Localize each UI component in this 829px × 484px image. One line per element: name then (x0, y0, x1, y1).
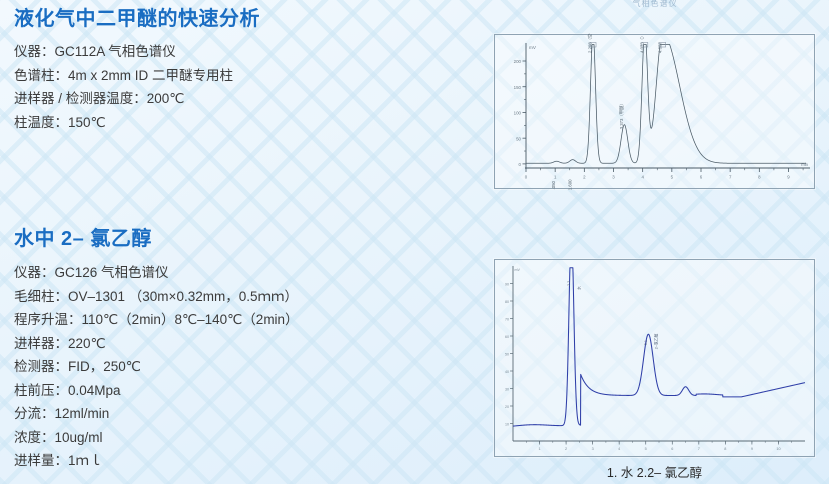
svg-text:150: 150 (514, 85, 522, 90)
svg-text:2–氯乙醇: 2–氯乙醇 (653, 333, 658, 349)
svg-text:5.1: 5.1 (644, 340, 648, 345)
svg-text:6: 6 (700, 175, 703, 180)
svg-text:20: 20 (505, 405, 509, 409)
svg-text:8: 8 (724, 447, 726, 451)
spec-item: 仪器：GC112A 气相色谱仪 (14, 40, 260, 64)
svg-text:6: 6 (671, 447, 673, 451)
svg-text:4: 4 (618, 447, 620, 451)
svg-text:2: 2 (565, 447, 567, 451)
svg-text:50: 50 (516, 136, 521, 141)
chromatogram-chloroethanol: 102030405060708090mV123456789102.2水5.12–… (493, 258, 816, 458)
section-chloroethanol: 水中 2– 氯乙醇 仪器：GC126 气相色谱仪 毛细柱：OV–1301 （30… (14, 226, 299, 473)
svg-text:60: 60 (505, 335, 509, 339)
svg-text:9: 9 (751, 447, 753, 451)
spec-item: 检测器：FID，250℃ (14, 355, 299, 379)
clipped-top-text: 气相色谱仪 (585, 0, 725, 7)
svg-text:50: 50 (505, 352, 509, 356)
spec-list-1: 仪器：GC112A 气相色谱仪 色谱柱：4m x 2mm ID 二甲醚专用柱 进… (14, 40, 260, 134)
svg-text:40: 40 (505, 370, 509, 374)
spec-item: 进样器 / 检测器温度：200℃ (14, 87, 260, 111)
svg-text:1.050: 1.050 (551, 180, 556, 190)
svg-text:80: 80 (505, 300, 509, 304)
spec-item: 色谱柱：4m x 2mm ID 二甲醚专用柱 (14, 64, 260, 88)
svg-text:5: 5 (645, 447, 647, 451)
spec-item: 进样器：220℃ (14, 332, 299, 356)
spec-item: 进样量：1ｍｌ (14, 449, 299, 473)
svg-text:5: 5 (671, 175, 674, 180)
svg-text:水: 水 (576, 286, 581, 290)
spec-list-2: 仪器：GC126 气相色谱仪 毛细柱：OV–1301 （30m×0.32mm，0… (14, 261, 299, 473)
chromatogram-chloroethanol-svg: 102030405060708090mV123456789102.2水5.12–… (493, 258, 816, 458)
svg-text:2: 2 (583, 175, 586, 180)
svg-text:70: 70 (505, 317, 509, 321)
spec-item: 柱前压：0.04Mpa (14, 379, 299, 403)
svg-text:10: 10 (776, 447, 780, 451)
spec-item: 仪器：GC126 气相色谱仪 (14, 261, 299, 285)
svg-text:4: 4 (641, 175, 644, 180)
svg-text:mV: mV (515, 268, 521, 272)
svg-text:2.298（空气）: 2.298（空气） (587, 33, 593, 53)
spec-item: 分流：12ml/min (14, 402, 299, 426)
svg-text:200: 200 (514, 59, 522, 64)
svg-text:min: min (801, 162, 808, 167)
svg-text:100: 100 (514, 111, 522, 116)
svg-text:7: 7 (729, 175, 732, 180)
svg-text:30: 30 (505, 387, 509, 391)
spec-item: 柱温度：150℃ (14, 111, 260, 135)
chromatogram-dme-svg: 050100150200mV0123456789min1.0501.6002.2… (493, 33, 816, 190)
spec-item: 毛细柱：OV–1301 （30m×0.32mm，0.5ｍｍ） (14, 285, 299, 309)
svg-text:3: 3 (592, 447, 594, 451)
svg-text:1.600: 1.600 (567, 179, 572, 190)
spec-item: 浓度：10ug/ml (14, 426, 299, 450)
svg-text:90: 90 (505, 282, 509, 286)
svg-text:0: 0 (519, 162, 522, 167)
section-lpg-dme: 液化气中二甲醚的快速分析 仪器：GC112A 气相色谱仪 色谱柱：4m x 2m… (14, 6, 260, 134)
svg-text:9: 9 (787, 175, 790, 180)
section-title-2: 水中 2– 氯乙醇 (14, 226, 299, 252)
svg-text:1: 1 (538, 447, 540, 451)
svg-text:0: 0 (525, 175, 528, 180)
poster-root: 气相色谱仪 液化气中二甲醚的快速分析 仪器：GC112A 气相色谱仪 色谱柱：4… (0, 0, 829, 484)
svg-text:1: 1 (554, 175, 557, 180)
chart2-caption: 1. 水 2.2– 氯乙醇 (493, 462, 816, 481)
svg-text:3.373（甲醚）: 3.373（甲醚） (618, 101, 625, 129)
svg-text:8: 8 (758, 175, 761, 180)
section-title-1: 液化气中二甲醚的快速分析 (14, 6, 260, 32)
svg-text:3: 3 (612, 175, 615, 180)
svg-text:2.2: 2.2 (567, 281, 571, 286)
chromatogram-dme: 050100150200mV0123456789min1.0501.6002.2… (493, 33, 816, 190)
svg-text:10: 10 (505, 422, 509, 426)
spec-item: 程序升温：110℃（2min）8℃–140℃（2min） (14, 308, 299, 332)
svg-text:7: 7 (698, 447, 700, 451)
svg-text:mV: mV (529, 45, 537, 50)
